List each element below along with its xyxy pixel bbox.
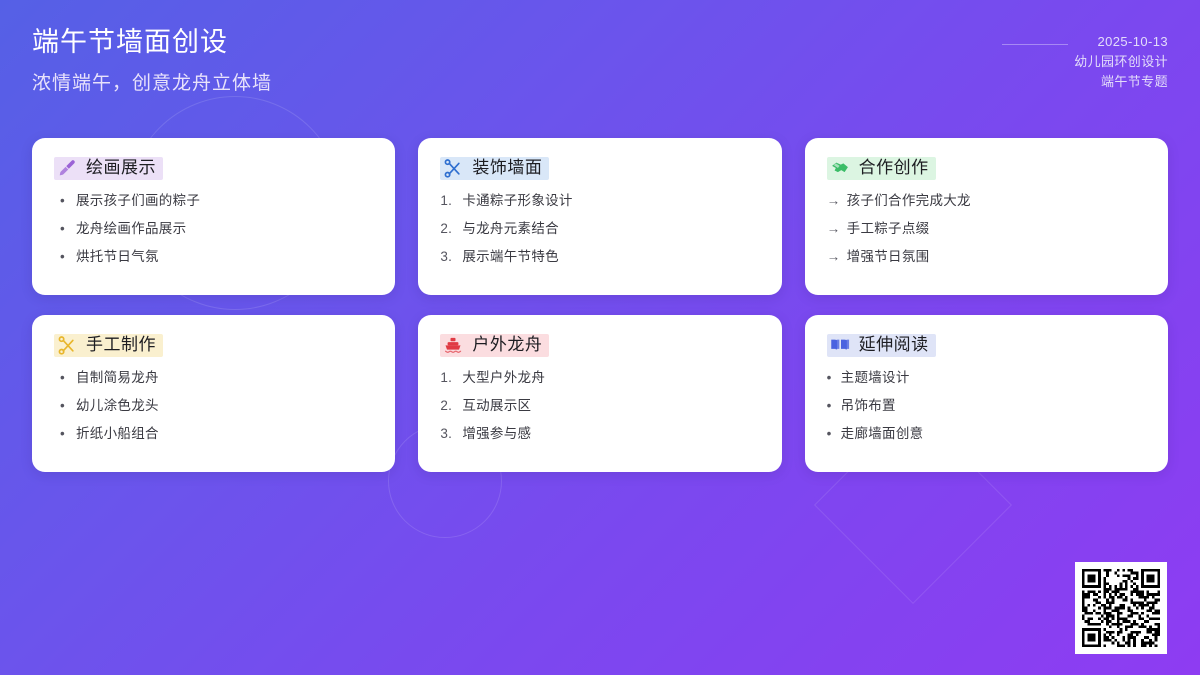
scissors-icon [443,158,463,178]
list-item: •展示孩子们画的粽子 [54,193,373,209]
list-item-text: 折纸小船组合 [76,426,373,442]
list-item-marker: • [54,193,76,209]
meta-topic: 端午节专题 [1074,72,1168,92]
list-item-marker: → [827,221,847,237]
card[interactable]: 户外龙舟1.大型户外龙舟2.互动展示区3.增强参与感 [418,315,781,472]
list-item: •自制简易龙舟 [54,370,373,386]
list-item-text: 烘托节日气氛 [76,249,373,265]
list-item: 1.大型户外龙舟 [440,370,759,386]
card-title: 户外龙舟 [472,335,542,355]
meta-org: 幼儿园环创设计 [1074,52,1168,72]
list-item-marker: • [54,370,76,386]
list-item-marker: 2. [440,398,462,414]
list-item: 2.互动展示区 [440,398,759,414]
card[interactable]: 绘画展示•展示孩子们画的粽子•龙舟绘画作品展示•烘托节日气氛 [32,138,395,295]
card-header: 延伸阅读 [827,334,936,357]
list-item-marker: • [54,398,76,414]
boat-icon [443,335,463,355]
list-item-marker: • [827,370,841,386]
title-block: 端午节墙面创设 浓情端午，创意龙舟立体墙 [32,26,272,96]
list-item: 1.卡通粽子形象设计 [440,193,759,209]
list-item-marker: 1. [440,193,462,209]
list-item-text: 龙舟绘画作品展示 [76,221,373,237]
card-list: 1.卡通粽子形象设计2.与龙舟元素结合3.展示端午节特色 [440,193,759,266]
list-item-text: 与龙舟元素结合 [462,221,759,237]
card-grid: 绘画展示•展示孩子们画的粽子•龙舟绘画作品展示•烘托节日气氛装饰墙面1.卡通粽子… [32,138,1168,472]
card[interactable]: 手工制作•自制简易龙舟•幼儿涂色龙头•折纸小船组合 [32,315,395,472]
list-item-text: 展示端午节特色 [462,249,759,265]
list-item-marker: 3. [440,426,462,442]
list-item: 3.展示端午节特色 [440,249,759,265]
list-item-text: 大型户外龙舟 [462,370,759,386]
card-list: 1.大型户外龙舟2.互动展示区3.增强参与感 [440,370,759,443]
books-icon [830,335,850,355]
list-item: 3.增强参与感 [440,426,759,442]
list-item-text: 互动展示区 [462,398,759,414]
list-item-marker: • [54,249,76,265]
card-title: 延伸阅读 [859,335,929,355]
list-item-text: 卡通粽子形象设计 [462,193,759,209]
card-header: 合作创作 [827,157,936,180]
list-item-text: 主题墙设计 [841,370,1146,386]
list-item-marker: • [827,426,841,442]
card-list: •主题墙设计•吊饰布置•走廊墙面创意 [827,370,1146,443]
list-item-text: 自制简易龙舟 [76,370,373,386]
qr-code-image [1082,569,1160,647]
list-item-text: 增强参与感 [462,426,759,442]
list-item: •吊饰布置 [827,398,1146,414]
page-title: 端午节墙面创设 [32,26,272,60]
slide-root: 端午节墙面创设 浓情端午，创意龙舟立体墙 2025-10-13 幼儿园环创设计 … [0,0,1200,675]
list-item: •龙舟绘画作品展示 [54,221,373,237]
card-list: •自制简易龙舟•幼儿涂色龙头•折纸小船组合 [54,370,373,443]
card-header: 手工制作 [54,334,163,357]
list-item: →增强节日氛围 [827,249,1146,265]
scissors-icon [57,335,77,355]
list-item-marker: • [54,426,76,442]
list-item-marker: 3. [440,249,462,265]
card[interactable]: 装饰墙面1.卡通粽子形象设计2.与龙舟元素结合3.展示端午节特色 [418,138,781,295]
list-item-marker: 1. [440,370,462,386]
card-title: 绘画展示 [86,158,156,178]
list-item: •主题墙设计 [827,370,1146,386]
list-item: 2.与龙舟元素结合 [440,221,759,237]
list-item: •折纸小船组合 [54,426,373,442]
qr-code[interactable] [1075,562,1167,654]
card-title: 手工制作 [86,335,156,355]
list-item-marker: • [827,398,841,414]
card-header: 绘画展示 [54,157,163,180]
paintbrush-icon [57,158,77,178]
slide-header: 端午节墙面创设 浓情端午，创意龙舟立体墙 2025-10-13 幼儿园环创设计 … [0,0,1200,120]
card[interactable]: 延伸阅读•主题墙设计•吊饰布置•走廊墙面创意 [805,315,1168,472]
list-item: →孩子们合作完成大龙 [827,193,1146,209]
list-item-text: 吊饰布置 [841,398,1146,414]
card[interactable]: 合作创作→孩子们合作完成大龙→手工粽子点缀→增强节日氛围 [805,138,1168,295]
list-item: •幼儿涂色龙头 [54,398,373,414]
list-item-marker: 2. [440,221,462,237]
list-item-marker: → [827,193,847,209]
page-subtitle: 浓情端午，创意龙舟立体墙 [32,72,272,97]
list-item-text: 走廊墙面创意 [841,426,1146,442]
card-title: 装饰墙面 [472,158,542,178]
list-item-marker: → [827,249,847,265]
list-item-marker: • [54,221,76,237]
card-list: →孩子们合作完成大龙→手工粽子点缀→增强节日氛围 [827,193,1146,266]
list-item-text: 孩子们合作完成大龙 [847,193,1146,209]
list-item: •走廊墙面创意 [827,426,1146,442]
meta-date: 2025-10-13 [1074,32,1168,52]
list-item: →手工粽子点缀 [827,221,1146,237]
list-item: •烘托节日气氛 [54,249,373,265]
card-list: •展示孩子们画的粽子•龙舟绘画作品展示•烘托节日气氛 [54,193,373,266]
list-item-text: 增强节日氛围 [847,249,1146,265]
handshake-icon [830,158,850,178]
meta-block: 2025-10-13 幼儿园环创设计 端午节专题 [1074,32,1168,92]
meta-divider [1002,44,1068,45]
list-item-text: 幼儿涂色龙头 [76,398,373,414]
list-item-text: 手工粽子点缀 [847,221,1146,237]
card-header: 户外龙舟 [440,334,549,357]
card-title: 合作创作 [859,158,929,178]
card-header: 装饰墙面 [440,157,549,180]
list-item-text: 展示孩子们画的粽子 [76,193,373,209]
